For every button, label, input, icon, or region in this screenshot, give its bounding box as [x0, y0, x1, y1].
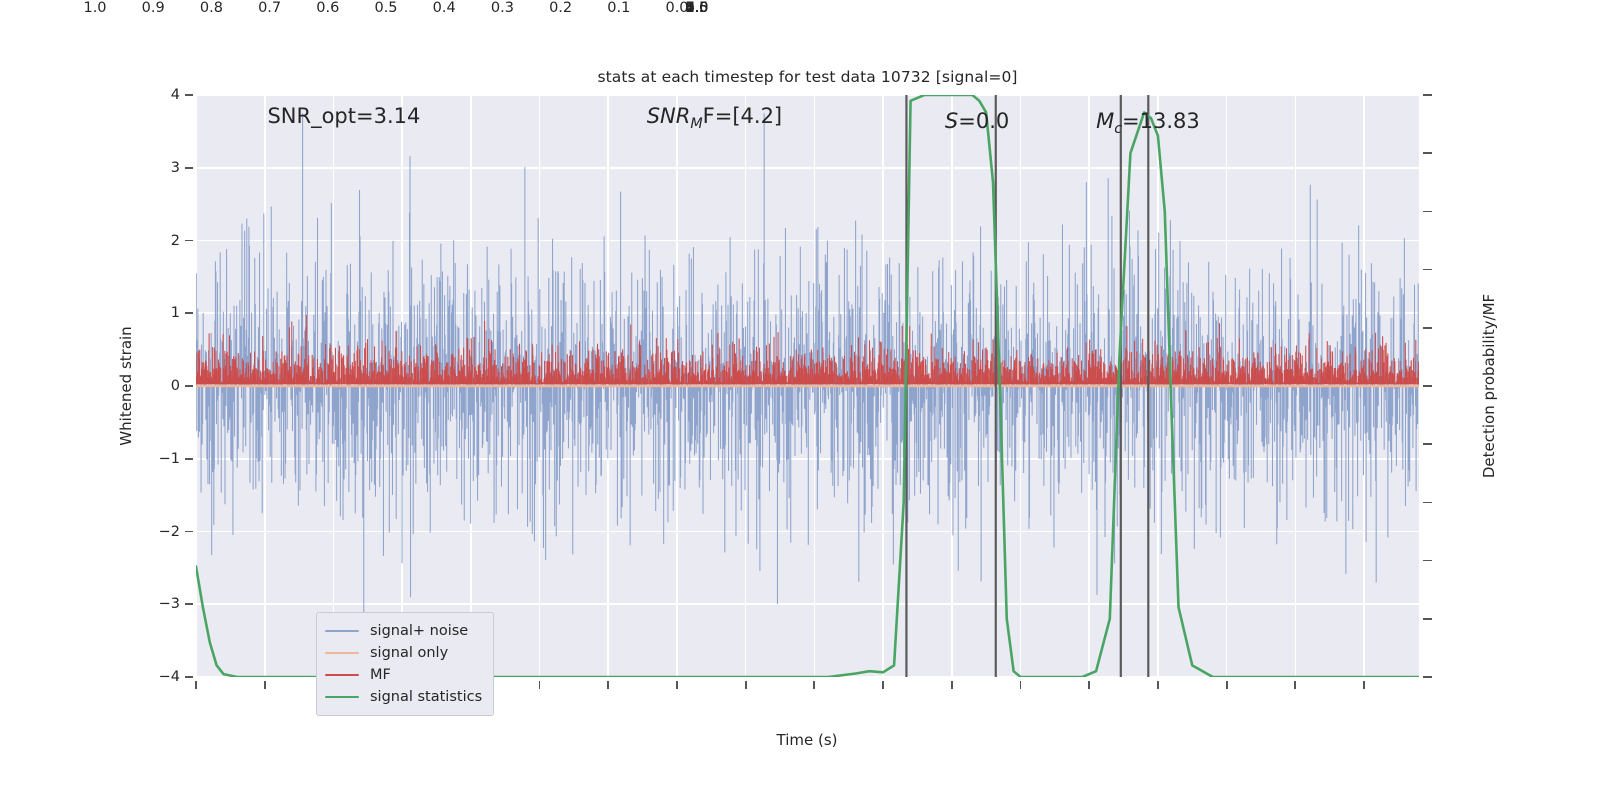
- tick-mark: [185, 676, 193, 678]
- annotation-base: M: [1096, 109, 1114, 133]
- annotation-base: S: [945, 109, 958, 133]
- y-tick-left: −2: [159, 524, 180, 540]
- y-tick-left: −1: [159, 451, 180, 467]
- noise-trace: [196, 113, 1418, 662]
- undefined: 0.1: [607, 0, 630, 16]
- y-axis-right-label: Detection probability/MF: [1480, 294, 1498, 478]
- legend-swatch-icon: [325, 674, 359, 677]
- legend-swatch-icon: [325, 696, 359, 699]
- annotation-snr-opt: SNR_opt=3.14: [267, 104, 420, 128]
- tick-mark: [1423, 618, 1432, 620]
- undefined: 0.8: [200, 0, 223, 16]
- tick-mark: [1423, 502, 1432, 504]
- y-axis-left-label: Whitened strain: [117, 326, 135, 445]
- legend[interactable]: signal+ noisesignal onlyMFsignal statist…: [316, 612, 494, 716]
- legend-item[interactable]: signal+ noise: [325, 620, 483, 642]
- y-tick-left: 3: [171, 160, 180, 176]
- legend-label: signal only: [370, 645, 448, 661]
- tick-mark: [1423, 443, 1432, 445]
- tick-mark: [813, 681, 815, 689]
- tick-mark: [195, 681, 197, 689]
- tick-mark: [607, 681, 609, 689]
- y-tick-left: 2: [171, 233, 180, 249]
- tick-mark: [185, 94, 193, 96]
- tick-mark: [1423, 269, 1432, 271]
- tick-mark: [539, 681, 541, 689]
- annotation-tail: =13.83: [1122, 109, 1200, 133]
- annotation-base: SNR: [647, 104, 691, 128]
- y-tick-left: 4: [171, 87, 180, 103]
- tick-mark: [1088, 681, 1090, 689]
- tick-mark: [1423, 327, 1432, 329]
- x-axis-label: Time (s): [777, 731, 838, 749]
- tick-mark: [1423, 211, 1432, 213]
- legend-swatch-icon: [325, 630, 359, 633]
- data-layer: [196, 95, 1419, 677]
- tick-mark: [185, 240, 193, 242]
- tick-mark: [951, 681, 953, 689]
- tick-mark: [264, 681, 266, 689]
- tick-mark: [1423, 152, 1432, 154]
- plot-area[interactable]: SNR_opt=3.14SNRMF=[4.2]S=0.0Mc=13.83: [196, 95, 1419, 677]
- y-tick-left: 0: [171, 378, 180, 394]
- figure: stats at each timestep for test data 107…: [0, 0, 1600, 800]
- annotation-chirp-mass: Mc=13.83: [1096, 109, 1200, 137]
- tick-mark: [1157, 681, 1159, 689]
- signal-plus-noise-series: [196, 113, 1418, 662]
- undefined: 8.5: [685, 0, 708, 16]
- tick-mark: [1423, 676, 1432, 678]
- y-tick-left: −4: [159, 669, 180, 685]
- page-title: stats at each timestep for test data 107…: [196, 68, 1419, 86]
- tick-mark: [185, 385, 193, 387]
- annotation-tail: F=[4.2]: [703, 104, 782, 128]
- tick-mark: [1226, 681, 1228, 689]
- annotation-tail: =0.0: [958, 109, 1009, 133]
- undefined: 0.6: [316, 0, 339, 16]
- tick-mark: [185, 531, 193, 533]
- tick-mark: [1423, 560, 1432, 562]
- legend-item[interactable]: signal statistics: [325, 686, 483, 708]
- tick-mark: [185, 167, 193, 169]
- undefined: 1.0: [83, 0, 106, 16]
- y-tick-left: 1: [171, 305, 180, 321]
- undefined: 0.7: [258, 0, 281, 16]
- legend-label: MF: [370, 667, 391, 683]
- undefined: 0.4: [433, 0, 456, 16]
- annotation-s-stat: S=0.0: [945, 109, 1009, 133]
- undefined: 0.3: [491, 0, 514, 16]
- tick-mark: [1423, 385, 1432, 387]
- legend-swatch-icon: [325, 652, 359, 655]
- annotation-snr-mf: SNRMF=[4.2]: [647, 104, 782, 132]
- tick-mark: [882, 681, 884, 689]
- legend-item[interactable]: signal only: [325, 642, 483, 664]
- tick-mark: [676, 681, 678, 689]
- legend-item[interactable]: MF: [325, 664, 483, 686]
- tick-mark: [1020, 681, 1022, 689]
- tick-mark: [185, 312, 193, 314]
- tick-mark: [185, 603, 193, 605]
- legend-label: signal statistics: [370, 689, 482, 705]
- y-tick-left: −3: [159, 596, 180, 612]
- annotation-subscript: c: [1114, 121, 1122, 137]
- tick-mark: [745, 681, 747, 689]
- undefined: 0.2: [549, 0, 572, 16]
- tick-mark: [185, 458, 193, 460]
- legend-label: signal+ noise: [370, 623, 468, 639]
- undefined: 0.5: [374, 0, 397, 16]
- tick-mark: [1423, 94, 1432, 96]
- tick-mark: [1294, 681, 1296, 689]
- undefined: 0.9: [142, 0, 165, 16]
- tick-mark: [1363, 681, 1365, 689]
- annotation-subscript: M: [690, 116, 702, 132]
